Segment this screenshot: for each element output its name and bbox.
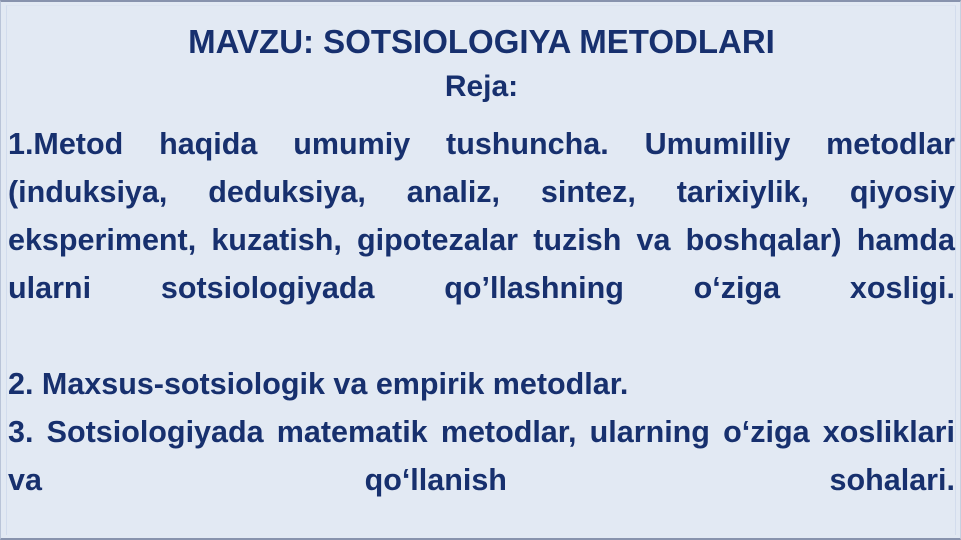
slide-canvas: MAVZU: SOTSIOLOGIYA METODLARI Reja: 1.Me… bbox=[0, 0, 961, 540]
agenda-item-2: 2. Maxsus-sotsiologik va empirik metodla… bbox=[8, 360, 955, 408]
title-block: MAVZU: SOTSIOLOGIYA METODLARI Reja: bbox=[1, 22, 961, 108]
page-title: MAVZU: SOTSIOLOGIYA METODLARI bbox=[1, 22, 961, 62]
page-subtitle: Reja: bbox=[1, 66, 961, 108]
agenda-item-3: 3. Sotsiologiyada matematik metodlar, ul… bbox=[8, 408, 955, 540]
agenda-list: 1.Metod haqida umumiy tushuncha. Umumill… bbox=[8, 120, 955, 540]
agenda-item-1: 1.Metod haqida umumiy tushuncha. Umumill… bbox=[8, 120, 955, 360]
